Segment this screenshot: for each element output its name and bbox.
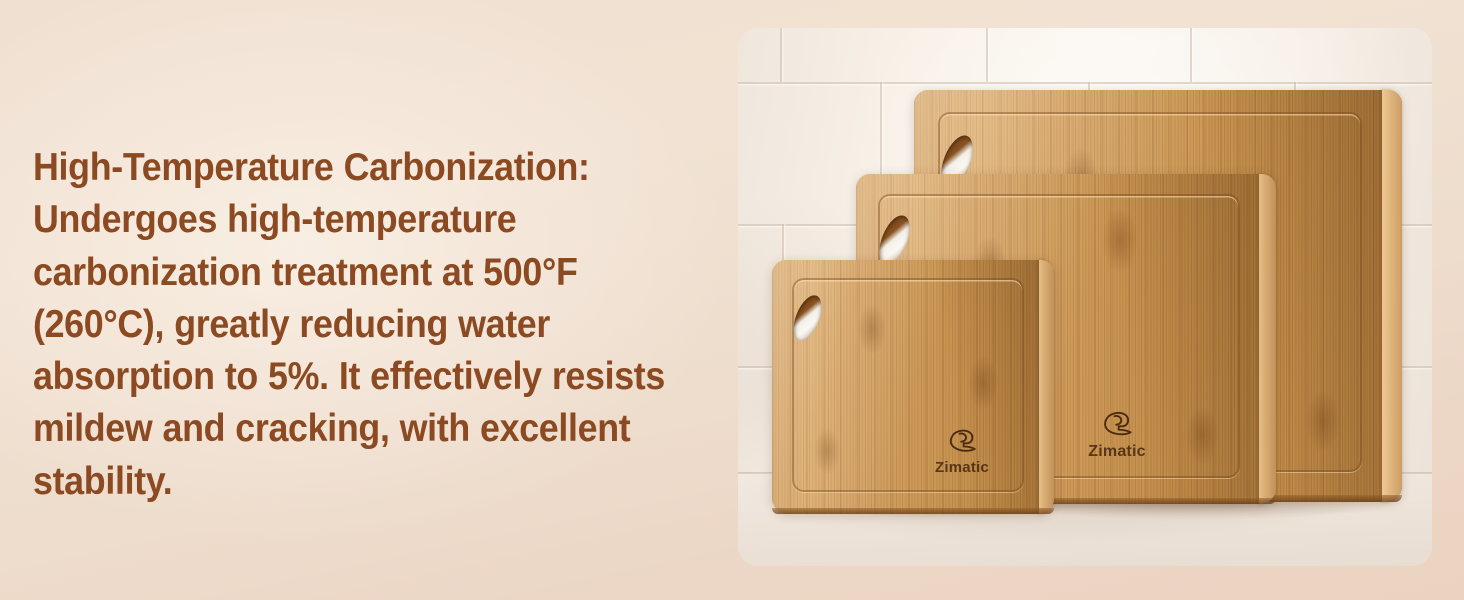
small-cutting-board: Zimatic [772, 260, 1054, 514]
board-side-edge [1039, 260, 1054, 514]
product-photo: Zimatic Zimatic [738, 28, 1432, 566]
board-side-edge [1259, 174, 1276, 504]
board-bottom-edge [772, 508, 1054, 514]
feature-description: High-Temperature Carbonization: Undergoe… [33, 142, 675, 508]
marketing-copy-block: High-Temperature Carbonization: Undergoe… [33, 142, 723, 508]
brand-logo-lockup: Zimatic [910, 428, 1014, 476]
tile-grout-line [1190, 28, 1192, 82]
spartan-helmet-icon [1100, 410, 1134, 441]
spartan-helmet-icon [946, 428, 978, 457]
tile-grout-line [738, 82, 1432, 84]
brand-name: Zimatic [1062, 443, 1172, 461]
tile-grout-line [986, 28, 988, 82]
tile-grout-line [780, 28, 782, 82]
board-side-edge [1382, 90, 1402, 502]
brand-name: Zimatic [910, 459, 1014, 476]
brand-logo-lockup: Zimatic [1062, 410, 1172, 461]
